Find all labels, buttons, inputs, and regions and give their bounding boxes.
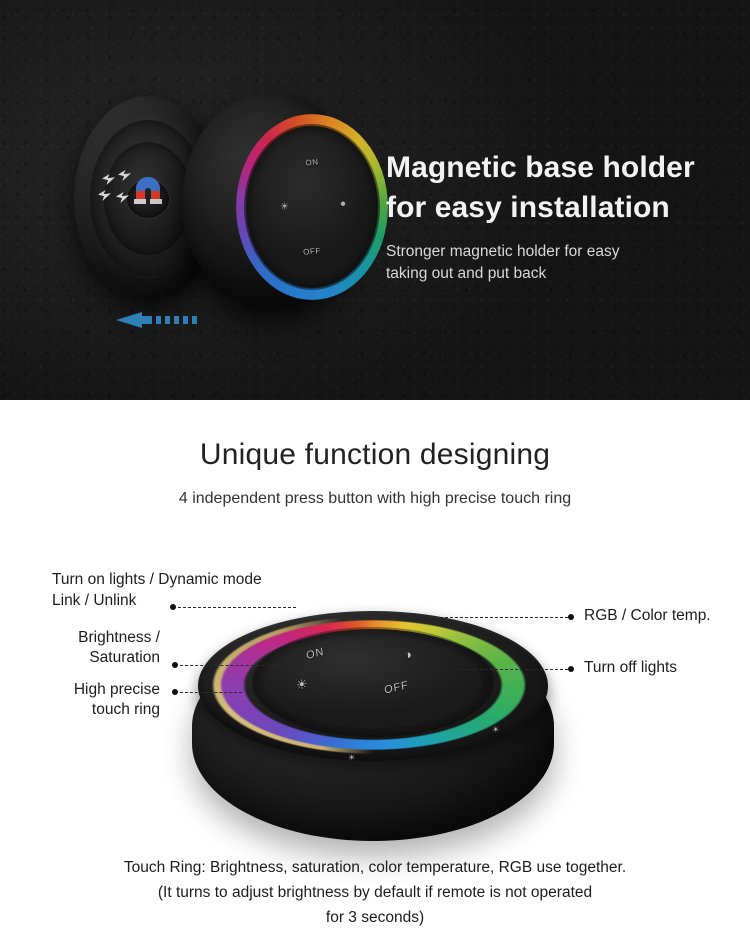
- section-title: Unique function designing: [0, 438, 750, 472]
- arrow-dash: [165, 316, 170, 324]
- remote-small-inner: ON OFF ☀ ●: [256, 138, 368, 276]
- color-palette-icon: ●: [340, 199, 346, 210]
- callout-line: Brightness /: [0, 628, 160, 648]
- hero-sub-line2: taking out and put back: [386, 263, 716, 285]
- leader-dot: [170, 604, 176, 610]
- callout-line: Saturation: [0, 648, 160, 668]
- horseshoe-magnet-icon: [96, 168, 168, 214]
- caption-line1: Touch Ring: Brightness, saturation, colo…: [0, 855, 750, 880]
- leader-dot: [172, 689, 178, 695]
- hero-title-line1: Magnetic base holder: [386, 148, 716, 188]
- remote-large-face: [254, 629, 492, 735]
- ring-marker-icon: ☀: [492, 725, 499, 734]
- hero-sub-line1: Stronger magnetic holder for easy: [386, 241, 716, 263]
- callout-rgb-color-temp: RGB / Color temp.: [584, 606, 711, 626]
- footer-caption: Touch Ring: Brightness, saturation, colo…: [0, 855, 750, 930]
- hero-panel: ON OFF ☀ ● Magnetic base holder for easy…: [0, 0, 750, 400]
- leader-dot: [172, 662, 178, 668]
- function-section: Unique function designing 4 independent …: [0, 400, 750, 949]
- leader-line: [460, 669, 568, 670]
- ring-marker-icon: ☀: [348, 753, 355, 762]
- color-palette-icon[interactable]: ◑: [404, 646, 413, 662]
- leader-line: [180, 692, 242, 693]
- spark-icon: [102, 174, 115, 185]
- hero-text-block: Magnetic base holder for easy installati…: [386, 148, 716, 285]
- leader-dot: [568, 666, 574, 672]
- section-subtitle: 4 independent press button with high pre…: [0, 490, 750, 508]
- callout-line: Link / Unlink: [52, 591, 136, 611]
- brightness-icon: ☀: [280, 202, 289, 213]
- arrow-dash: [192, 316, 197, 324]
- callout-touch-ring: High precise touch ring: [0, 680, 160, 721]
- off-button-small: OFF: [303, 246, 322, 257]
- remote-small-face: ON OFF ☀ ●: [246, 126, 378, 288]
- arrow-head: [116, 312, 142, 328]
- brightness-icon[interactable]: ☀: [296, 676, 309, 694]
- arrow-dash: [156, 316, 161, 324]
- callout-line: Turn on lights / Dynamic mode: [52, 570, 262, 590]
- left-arrow-icon: [116, 308, 214, 330]
- spark-icon: [98, 190, 111, 201]
- arrow-dash: [183, 316, 188, 324]
- callout-turn-off-lights: Turn off lights: [584, 658, 677, 678]
- callout-line: touch ring: [0, 700, 160, 720]
- callout-line: High precise: [0, 680, 160, 700]
- caption-line3: for 3 seconds): [0, 905, 750, 930]
- leader-dot: [568, 614, 574, 620]
- caption-line2: (It turns to adjust brightness by defaul…: [0, 880, 750, 905]
- leader-line: [180, 665, 370, 666]
- leader-line: [440, 617, 568, 618]
- remote-small: ON OFF ☀ ●: [182, 92, 362, 310]
- arrow-tail: [142, 316, 152, 324]
- hero-subtitle: Stronger magnetic holder for easy taking…: [386, 241, 716, 285]
- leader-line: [178, 607, 296, 608]
- hero-title-line2: for easy installation: [386, 188, 716, 228]
- product-feature-page: ON OFF ☀ ● Magnetic base holder for easy…: [0, 0, 750, 949]
- remote-large: ON OFF ☀ ◑ ☀ ☀: [188, 585, 558, 850]
- hero-title: Magnetic base holder for easy installati…: [386, 148, 716, 227]
- callout-brightness-saturation: Brightness / Saturation: [0, 628, 160, 669]
- arrow-dash: [174, 316, 179, 324]
- on-button-small: ON: [305, 157, 319, 167]
